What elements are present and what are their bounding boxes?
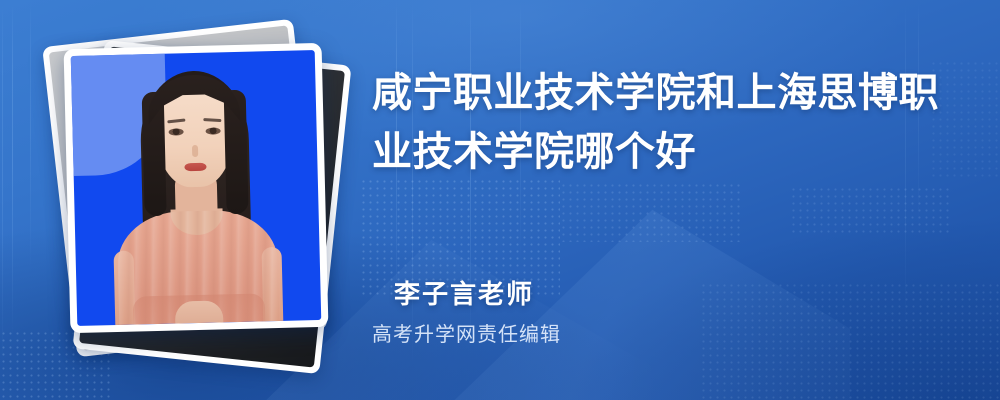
photo-card-stack	[52, 24, 342, 374]
author-portrait-photo	[71, 50, 322, 326]
portrait-figure	[71, 50, 322, 326]
author-role: 高考升学网责任编辑	[372, 318, 561, 347]
article-header-banner: 咸宁职业技术学院和上海思博职业技术学院哪个好 李子言老师 高考升学网责任编辑	[0, 0, 1000, 400]
headline-title: 咸宁职业技术学院和上海思博职业技术学院哪个好	[372, 64, 972, 182]
photo-card-front	[64, 43, 329, 333]
portrait-nose	[192, 145, 198, 157]
author-name: 李子言老师	[394, 274, 534, 311]
text-column: 咸宁职业技术学院和上海思博职业技术学院哪个好 李子言老师 高考升学网责任编辑	[372, 0, 992, 400]
portrait-mouth	[184, 163, 206, 172]
portrait-hands	[175, 300, 224, 323]
